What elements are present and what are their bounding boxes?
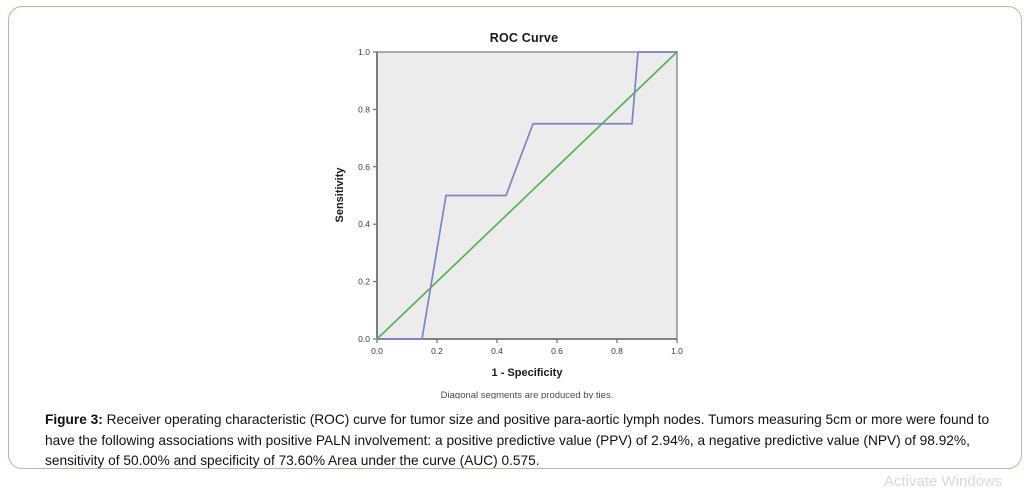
figure-caption: Figure 3: Receiver operating characteris… — [45, 410, 995, 472]
y-tick-label: 0.4 — [358, 219, 370, 229]
y-tick-label: 0.6 — [358, 162, 370, 172]
x-tick-label: 1.0 — [671, 346, 683, 356]
x-tick-label: 0.6 — [551, 346, 563, 356]
x-tick-label: 0.0 — [371, 346, 383, 356]
x-tick-label: 0.4 — [491, 346, 503, 356]
x-tick-label: 0.2 — [431, 346, 443, 356]
watermark-title: Activate Windows — [884, 474, 1002, 488]
figure-caption-label: Figure 3: — [45, 412, 103, 427]
y-tick-label: 0.8 — [358, 104, 370, 114]
y-tick-label: 1.0 — [358, 47, 370, 57]
y-axis-title: Sensitivity — [334, 167, 346, 223]
y-tick-group: 0.00.20.40.60.81.0 — [358, 47, 377, 344]
x-axis-title: 1 - Specificity — [492, 367, 564, 379]
roc-chart: ROC Curve 0.00.20.40.60.81.0 0.00.20.40.… — [329, 19, 719, 399]
activate-windows-watermark: Activate Windows Go to Settings to activ… — [884, 474, 1033, 488]
y-tick-label: 0.0 — [358, 334, 370, 344]
figure-caption-body: Receiver operating characteristic (ROC) … — [45, 412, 989, 468]
x-tick-group: 0.00.20.40.60.81.0 — [371, 339, 683, 356]
y-tick-label: 0.2 — [358, 277, 370, 287]
chart-footnote: Diagonal segments are produced by ties. — [441, 390, 614, 399]
x-tick-label: 0.8 — [611, 346, 623, 356]
figure-frame: ROC Curve 0.00.20.40.60.81.0 0.00.20.40.… — [8, 6, 1022, 469]
roc-plot-svg: 0.00.20.40.60.81.0 0.00.20.40.60.81.0 1 … — [329, 19, 719, 399]
